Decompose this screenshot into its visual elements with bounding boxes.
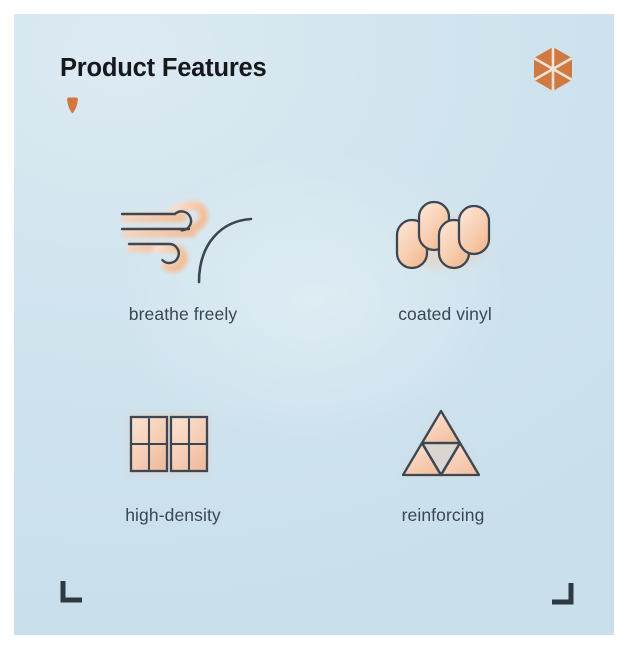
grid-panels-icon	[94, 389, 244, 497]
feature-card: Product Features	[14, 14, 614, 635]
subdivided-triangle-icon	[366, 389, 516, 497]
feature-grid: breathe freely	[44, 186, 584, 566]
wind-icon	[112, 182, 262, 290]
corner-bracket-bottom-left-icon	[60, 581, 82, 603]
slide-frame: Product Features	[0, 0, 640, 653]
feature-label-breathe-freely: breathe freely	[129, 304, 237, 325]
feature-item-breathe-freely[interactable]: breathe freely	[44, 186, 314, 365]
feature-label-reinforcing: reinforcing	[402, 505, 485, 526]
overlapping-capsules-icon	[368, 182, 518, 290]
feature-item-high-density[interactable]: high-density	[44, 387, 314, 566]
corner-bracket-bottom-right-icon	[552, 583, 574, 605]
feature-label-coated-vinyl: coated vinyl	[398, 304, 492, 325]
page-title: Product Features	[60, 54, 267, 83]
hexagon-star-logo-icon	[528, 44, 578, 94]
card-header: Product Features	[60, 40, 584, 120]
feature-label-high-density: high-density	[125, 505, 221, 526]
feature-item-coated-vinyl[interactable]: coated vinyl	[314, 186, 584, 365]
feature-item-reinforcing[interactable]: reinforcing	[314, 387, 584, 566]
orange-shield-accent-icon	[65, 97, 80, 114]
